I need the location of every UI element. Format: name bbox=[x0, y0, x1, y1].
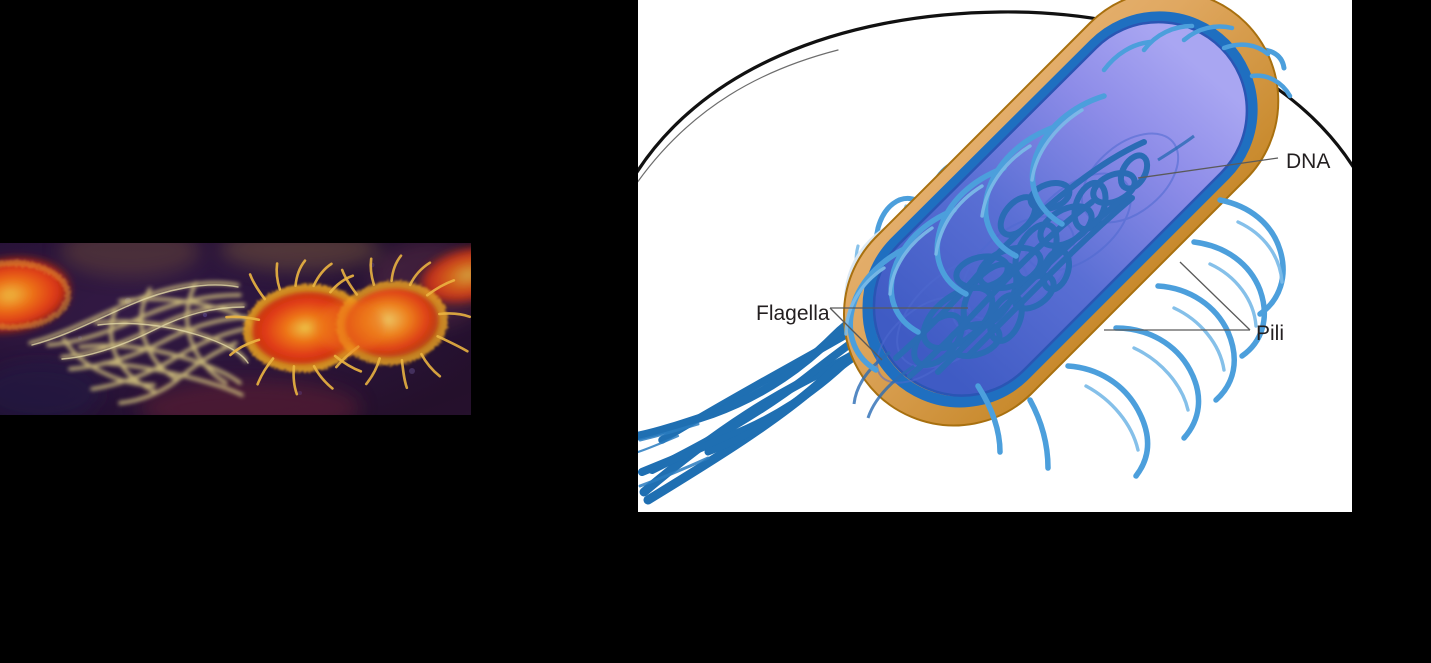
label-flagella: Flagella bbox=[756, 302, 830, 325]
label-pili: Pili bbox=[1256, 322, 1284, 345]
screenshot-root: Flagella DNA Pili bbox=[0, 0, 1431, 663]
micrograph-grain bbox=[0, 243, 471, 415]
micrograph-image bbox=[0, 243, 471, 415]
label-dna: DNA bbox=[1286, 150, 1330, 173]
field-arc-inner bbox=[638, 50, 838, 196]
bacteria-micrograph-panel bbox=[0, 243, 471, 415]
prokaryote-cell-illustration: Flagella DNA Pili bbox=[638, 0, 1352, 512]
prokaryote-diagram-panel: Flagella DNA Pili bbox=[638, 0, 1352, 512]
